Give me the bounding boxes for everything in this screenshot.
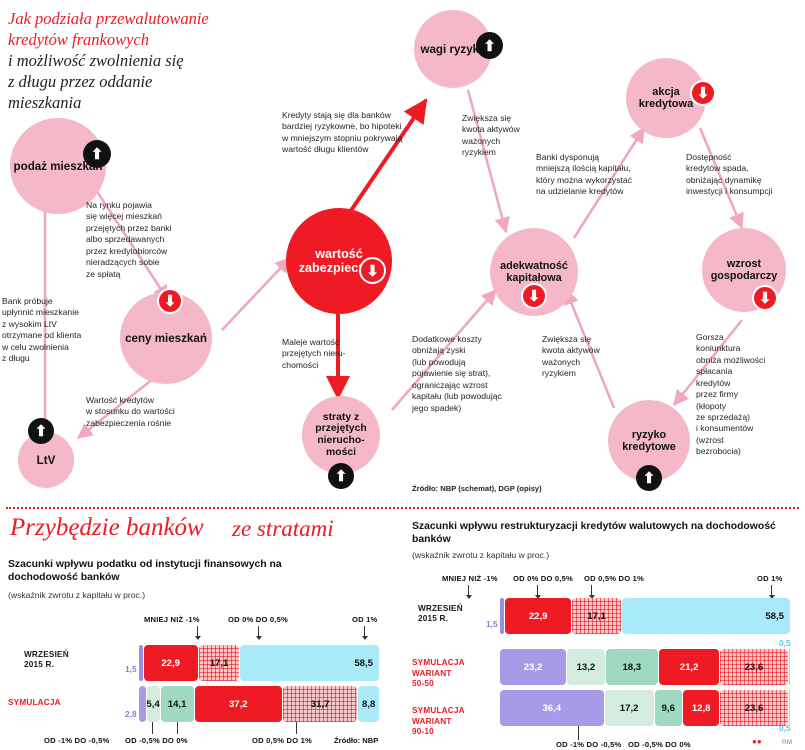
node-label: straty z przejętych nierucho- mości [302,412,380,459]
arrow-up-icon: ⬆ [328,463,354,489]
bar-segment[interactable]: 23,2 [500,649,566,685]
caption-na-rynku: Na rynku pojawia się więcej mieszkań prz… [86,200,206,280]
tick-arrow-icon [362,636,368,640]
bar-segment[interactable] [139,645,143,681]
bottom-title-left: Przybędzie banków [10,514,204,542]
divider-top [6,507,799,509]
arrow-up-icon: ⬆ [636,465,662,491]
caption-gorsza: Gorsza koniunktura obniża możliwości spł… [696,332,796,458]
bar-segment[interactable]: 12,8 [683,690,719,726]
tick-label-top-1: OD 0% DO 0,5% [513,574,573,583]
bar-segment[interactable]: 8,8 [358,686,379,722]
tick-label-top-1: OD 0% DO 0,5% [228,615,288,624]
row-outside-value: 1,5 [125,664,137,674]
bar-segment[interactable]: 22,9 [144,645,198,681]
node-label: LtV [37,454,56,467]
tick-label-top-2: OD 1% [352,615,377,624]
node-label: adekwatność kapitałowa [490,260,578,284]
caption-dodatkowe-koszty: Dodatkowe koszty obniżają zyski (lub pow… [412,334,536,414]
chart-right-subtitle: (wskaźnik zwrotu z kapitału w proc.) [412,550,549,560]
tick-line [578,726,579,740]
bar-segment[interactable]: 5,4 [147,686,160,722]
tick-label-bottom-1: OD -0,5% DO 0% [628,740,691,749]
tick-label-top-0: MNIEJ NIŻ -1% [144,615,200,624]
headline-dark: i możliwość zwolnienia się z długu przez… [8,51,184,112]
row-outside-value: 1,5 [486,619,498,629]
arrow-up-icon: ⬆ [476,32,503,59]
bar-segment[interactable]: 9,6 [655,690,682,726]
dgp-logo: ●● [752,737,762,746]
tick-label-bottom-1: OD -0,5% DO 0% [125,736,188,745]
tick-label-top-3: OD 1% [757,574,782,583]
bar-segment[interactable] [789,649,790,685]
arrow-down-icon: ⬇ [359,257,386,284]
bar-row-wrzesien: 22,9 17,1 58,5 [139,645,379,681]
node-label: ceny mieszkań [125,332,207,345]
bar-segment[interactable]: 21,2 [659,649,719,685]
bar-segment[interactable]: 17,1 [199,645,240,681]
tick-label-bottom-0: OD -1% DO -0,5% [556,740,621,749]
caption-zwieksza-lewo: Zwiększa się kwota aktywów ważonych ryzy… [462,113,544,159]
rm-logo: RM [782,739,792,746]
tick-line [177,722,178,734]
bar-segment[interactable]: 18,3 [606,649,658,685]
row-outside-value: 2,8 [125,709,137,719]
bar-segment[interactable] [500,598,504,634]
caption-banki-dysponuja: Banki dysponują mniejszą ilością kapitał… [536,152,664,198]
row-label-symulacja-9010: SYMULACJA WARIANT 90-10 [412,696,465,737]
chart-left-title: Szacunki wpływu podatku od instytucji fi… [8,558,308,585]
bar-row-symulacja-5050: 23,2 13,2 18,3 21,2 23,6 [500,649,790,685]
arrow-up-icon: ⬆ [28,418,54,444]
row-label-symulacja: SYMULACJA [8,698,61,708]
bar-segment[interactable]: 13,2 [567,649,605,685]
row-label-wrzesien: WRZESIEŃ 2015 R. [418,604,463,625]
arrow-down-icon: ⬇ [752,285,778,311]
chart-left-source: Źródło: NBP [334,736,378,745]
caption-bank-probuje: Bank próbuje upłynnić mieszkanie z wysok… [2,296,110,365]
bar-segment[interactable]: 37,2 [195,686,282,722]
chart-right-title: Szacunki wpływu restrukturyzacji kredytó… [412,520,792,547]
caption-kredyty-staja: Kredyty stają się dla banków bardziej ry… [282,110,452,156]
node-label: wzrost gospodarczy [702,258,786,282]
row-label-symulacja-5050: SYMULACJA WARIANT 50-50 [412,648,465,689]
bar-segment[interactable]: 22,9 [505,598,571,634]
bar-row-wrzesien: 22,9 17,1 58,5 [500,598,790,634]
arrow-up-icon: ⬆ [83,140,111,168]
tick-arrow-icon [466,595,472,599]
arrow-down-icon: ⬇ [521,283,547,309]
tick-line [152,722,153,734]
arrow-down-icon: ⬇ [690,80,716,106]
chart-left-subtitle: (wskaźnik zwrotu z kapitału w proc.) [8,590,145,600]
caption-maleje-wartosc: Maleje wartość przejętych nieru- chomośc… [282,337,378,371]
caption-dostepnosc: Dostępność kredytów spada, obniżając dyn… [686,152,798,198]
bar-row-symulacja-9010: 36,4 17,2 9,6 12,8 23,6 [500,690,790,726]
bar-segment[interactable]: 31,7 [283,686,357,722]
caption-wartosc-kredytow: Wartość kredytów w stosunku do wartości … [86,395,216,429]
tick-label-bottom-0: OD -1% DO -0,5% [44,736,109,745]
tick-arrow-icon [195,636,201,640]
tick-label-top-0: MNIEJ NIŻ -1% [442,574,498,583]
bar-segment[interactable]: 17,2 [605,690,654,726]
flow-diagram: Jak podziała przewalutowanie kredytów fr… [0,0,805,505]
tick-line [296,722,297,734]
bar-segment[interactable]: 23,6 [720,649,787,685]
bar-row-symulacja: 5,4 14,1 37,2 31,7 8,8 [139,686,379,722]
bar-segment[interactable]: 23,6 [720,690,787,726]
caption-zwieksza-prawo: Zwiększa się kwota aktywów ważonych ryzy… [542,334,622,380]
diagram-source: Źródło: NBP (schemat), DGP (opisy) [412,484,542,493]
headline-red: Jak podziała przewalutowanie kredytów fr… [8,9,209,49]
tick-arrow-icon [256,636,262,640]
bar-segment[interactable]: 36,4 [500,690,604,726]
row-label-wrzesien: WRZESIEŃ 2015 R. [24,650,69,671]
bar-segment[interactable]: 58,5 [240,645,379,681]
bottom-title-right: ze stratami [232,516,334,542]
node-label: ryzyko kredytowe [608,429,690,453]
bar-segment[interactable]: 58,5 [622,598,790,634]
row-outside-value: 0,5 [779,638,791,648]
bar-segment[interactable] [139,686,146,722]
tick-label-bottom-2: OD 0,5% DO 1% [252,736,312,745]
bar-segment[interactable] [789,690,790,726]
tick-label-top-2: OD 0,5% DO 1% [584,574,644,583]
page-title: Jak podziała przewalutowanie kredytów fr… [8,8,263,114]
bar-segment[interactable]: 17,1 [572,598,621,634]
arrow-down-icon: ⬇ [157,288,183,314]
bar-segment[interactable]: 14,1 [161,686,194,722]
